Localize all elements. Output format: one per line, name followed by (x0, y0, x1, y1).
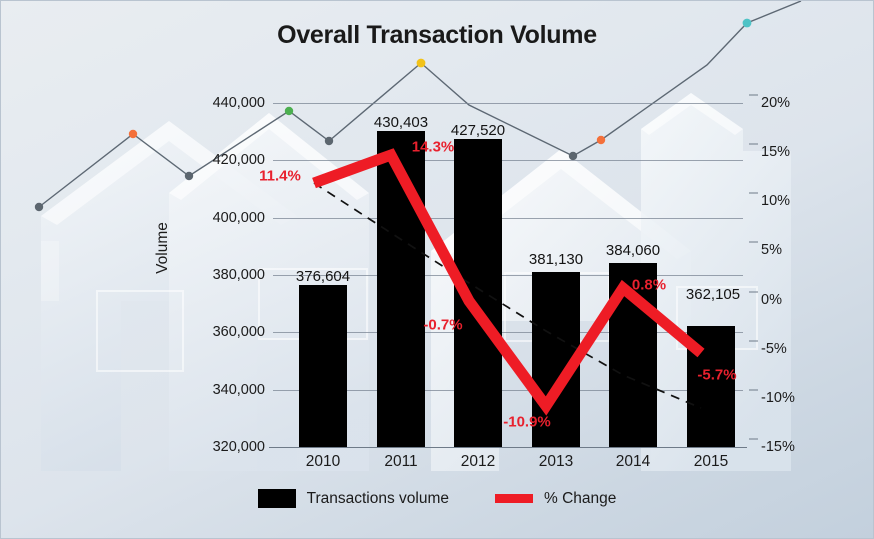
right-axis-tick: 20% (761, 95, 790, 111)
pct-label-2012: -0.7% (423, 317, 462, 334)
x-axis-tick-2010: 2010 (306, 453, 340, 471)
right-axis-tick: 10% (761, 193, 790, 209)
legend-label-percent-change: % Change (544, 490, 616, 508)
plot-area: 376,604 430,403 427,520 381,130 384,060 … (273, 103, 743, 447)
left-axis-tick: 320,000 (213, 439, 265, 455)
chart-legend: Transactions volume % Change (1, 489, 873, 508)
left-axis-tick: 380,000 (213, 267, 265, 283)
left-axis-tick: 360,000 (213, 324, 265, 340)
legend-label-transactions-volume: Transactions volume (307, 490, 449, 508)
legend-item-percent-change: % Change (495, 490, 616, 508)
y-axis-title: Volume (154, 222, 172, 274)
left-axis-tick: 400,000 (213, 210, 265, 226)
zigzag-dot-yellow (417, 59, 426, 68)
x-axis-baseline (269, 447, 747, 448)
right-axis-tick: 5% (761, 242, 782, 258)
x-axis-tick-2013: 2013 (539, 453, 573, 471)
percent-change-line-series (273, 103, 743, 447)
left-axis: 440,000 420,000 400,000 380,000 360,000 … (173, 103, 265, 447)
pct-label-2013: -10.9% (503, 414, 551, 431)
legend-swatch-bar-icon (258, 489, 296, 508)
right-axis: 20% 15% 10% 5% 0% -5% -10% -15% (761, 103, 831, 447)
x-axis-tick-2014: 2014 (616, 453, 650, 471)
right-axis-tick: 0% (761, 292, 782, 308)
trendline-dashed (314, 183, 701, 408)
right-axis-tick: -15% (761, 439, 795, 455)
x-axis-tick-2011: 2011 (384, 453, 417, 471)
x-axis-tick-2015: 2015 (694, 453, 728, 471)
zigzag-dot-gray-1 (35, 203, 43, 211)
left-axis-tick: 440,000 (213, 95, 265, 111)
chart-canvas: Overall Transaction Volume 440,000 420,0… (0, 0, 874, 539)
legend-item-transactions-volume: Transactions volume (258, 489, 449, 508)
right-axis-tick: -10% (761, 390, 795, 406)
x-axis-tick-2012: 2012 (461, 453, 495, 471)
pct-label-2015: -5.7% (697, 367, 736, 384)
pct-label-2011: 14.3% (412, 139, 455, 156)
left-axis-tick: 420,000 (213, 152, 265, 168)
pct-label-2014: 0.8% (632, 277, 666, 294)
zigzag-dot-orange-1 (129, 130, 137, 138)
page-title: Overall Transaction Volume (1, 21, 873, 50)
legend-swatch-line-icon (495, 494, 533, 503)
left-axis-tick: 340,000 (213, 382, 265, 398)
right-axis-tick: -5% (761, 341, 787, 357)
right-axis-tick: 15% (761, 144, 790, 160)
pct-label-2010: 11.4% (259, 168, 301, 185)
